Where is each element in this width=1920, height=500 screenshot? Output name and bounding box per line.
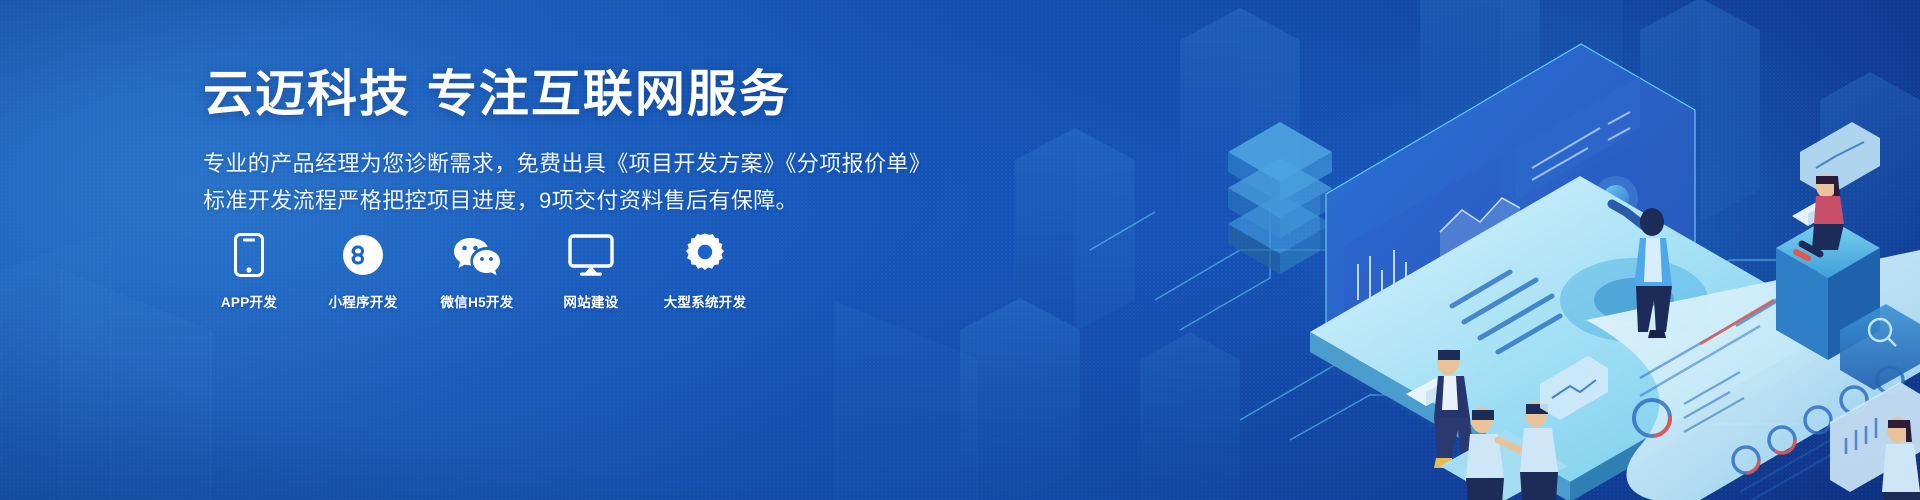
person-bottom-right [1882, 417, 1920, 500]
dashboard-screen [1318, 40, 1700, 436]
pedestal-blocks [1776, 218, 1920, 390]
standing-person-pointing [1612, 204, 1672, 338]
banner-subtitle: 专业的产品经理为您诊断需求，免费出具《项目开发方案》《分项报价单》 标准开发流程… [203, 146, 903, 219]
service-item-app[interactable]: APP开发 [205, 232, 293, 311]
page-title: 云迈科技 专注互联网服务 [203, 66, 903, 124]
floating-chart-card [1830, 382, 1920, 492]
subtitle-line-2: 标准开发流程严格把控项目进度，9项交付资料售后有保障。 [203, 183, 903, 219]
mini-chart-card [1540, 356, 1608, 420]
banner-content: 云迈科技 专注互联网服务 专业的产品经理为您诊断需求，免费出具《项目开发方案》《… [203, 66, 903, 221]
service-item-wechat-h5[interactable]: 微信H5开发 [433, 232, 521, 311]
woman-on-block-laptop [1792, 174, 1844, 258]
service-label: APP开发 [221, 291, 277, 311]
decorative-block [1500, 0, 1622, 187]
promo-banner: 云迈科技 专注互联网服务 专业的产品经理为您诊断需求，免费出具《项目开发方案》《… [0, 0, 1920, 500]
mobile-phone-icon [234, 232, 264, 278]
service-list: APP开发 小程序开发 [205, 232, 749, 311]
two-people-talking [1440, 401, 1568, 500]
chat-bubble-card [1800, 122, 1880, 196]
service-label: 大型系统开发 [664, 291, 747, 311]
mini-program-icon [342, 232, 384, 278]
service-label: 小程序开发 [329, 291, 398, 311]
background-glow-right [1060, 0, 1920, 500]
gear-icon [683, 232, 727, 278]
decorative-block [835, 301, 977, 500]
service-item-large-system[interactable]: 大型系统开发 [661, 232, 749, 311]
data-report-sheet [1586, 250, 1920, 500]
service-label: 网站建设 [563, 291, 618, 311]
wechat-icon [453, 232, 501, 278]
hero-illustration [940, 0, 1920, 500]
subtitle-line-1: 专业的产品经理为您诊断需求，免费出具《项目开发方案》《分项报价单》 [203, 146, 903, 182]
city-blocks [960, 0, 1920, 500]
service-label: 微信H5开发 [440, 291, 513, 311]
tablet-platform [1310, 176, 1840, 500]
circuit-lines [1090, 210, 1820, 470]
service-item-website[interactable]: 网站建设 [547, 232, 635, 311]
seated-person-laptop [1406, 349, 1476, 468]
service-item-miniprogram[interactable]: 小程序开发 [319, 232, 407, 311]
server-stack [1228, 122, 1332, 274]
decorative-block [60, 269, 212, 500]
monitor-icon [568, 232, 614, 278]
decorative-block [0, 230, 112, 500]
